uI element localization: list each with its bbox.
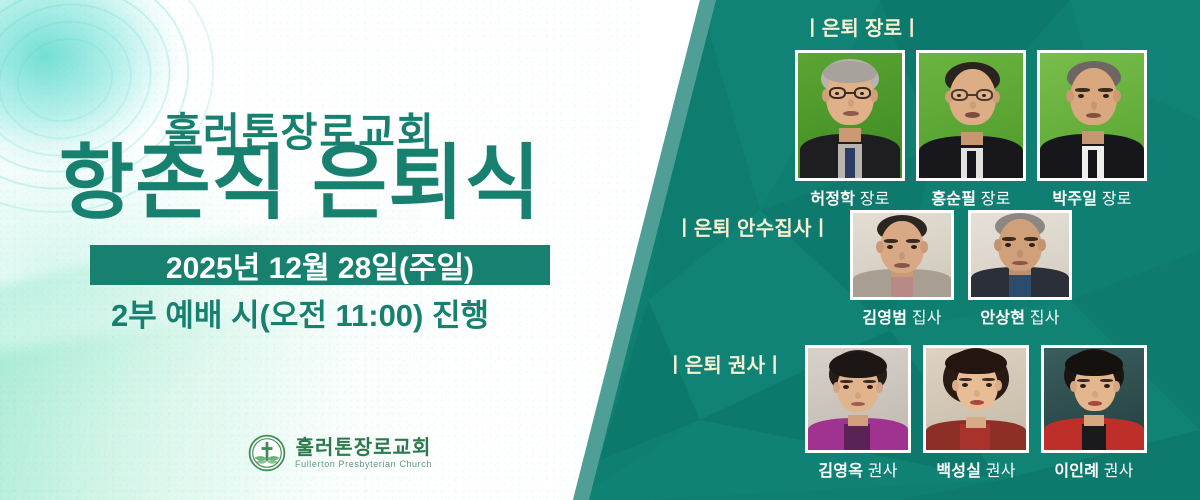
person-given-name: 박주일 [1052, 191, 1097, 208]
person-card: 안상현 집사 [968, 210, 1072, 328]
person-title: 장로 [976, 191, 1011, 208]
person-title: 장로 [1097, 191, 1132, 208]
person-name: 홍순필 장로 [916, 185, 1026, 209]
person-title: 권사 [981, 463, 1016, 480]
portrait-illustration [853, 213, 951, 297]
person-title: 집사 [907, 310, 942, 327]
person-photo [968, 210, 1072, 300]
portrait-illustration [798, 53, 902, 178]
person-card: 김영범 집사 [850, 210, 954, 328]
person-given-name: 홍순필 [931, 191, 976, 208]
portrait-illustration [808, 348, 908, 450]
portrait-illustration [971, 213, 1069, 297]
person-photo [795, 50, 905, 181]
person-given-name: 이인례 [1054, 463, 1099, 480]
person-photo [923, 345, 1029, 453]
people-row-female-deacons: 김영옥 권사 [805, 345, 1147, 481]
person-title: 장로 [855, 191, 890, 208]
person-card: 김영옥 권사 [805, 345, 911, 481]
person-name: 박주일 장로 [1037, 185, 1147, 209]
portrait-illustration [1044, 348, 1144, 450]
person-card: 허정학 장로 [795, 50, 905, 209]
person-card: 홍순필 장로 [916, 50, 1026, 209]
person-name: 안상현 집사 [968, 304, 1072, 328]
person-given-name: 허정학 [810, 191, 855, 208]
person-photo [916, 50, 1026, 181]
people-row-elders: 허정학 장로 [795, 50, 1147, 209]
person-given-name: 김영범 [862, 310, 907, 327]
person-given-name: 안상현 [980, 310, 1025, 327]
group-heading-female-deacons: ㅣ은퇴 권사ㅣ [666, 349, 784, 378]
person-photo [805, 345, 911, 453]
person-photo [1037, 50, 1147, 181]
people-row-ordained-deacons: 김영범 집사 [850, 210, 1072, 328]
portrait-illustration [1040, 53, 1144, 178]
person-name: 백성실 권사 [923, 457, 1029, 481]
person-card: 박주일 장로 [1037, 50, 1147, 209]
date-text: 2025년 12월 28일(주일) [166, 243, 474, 287]
person-title: 집사 [1025, 310, 1060, 327]
person-name: 이인례 권사 [1041, 457, 1147, 481]
logo-english-name: Fullerton Presbyterian Church [295, 460, 432, 469]
person-name: 허정학 장로 [795, 185, 905, 209]
person-title: 권사 [1099, 463, 1134, 480]
group-heading-elders: ㅣ은퇴 장로ㅣ [803, 12, 921, 41]
retirees-section: ㅣ은퇴 장로ㅣ [600, 0, 1200, 500]
person-title: 권사 [863, 463, 898, 480]
person-given-name: 김영옥 [818, 463, 863, 480]
person-card: 이인례 권사 [1041, 345, 1147, 481]
portrait-illustration [919, 53, 1023, 178]
left-text-block: 훌러톤장로교회 항존직 은퇴식 2025년 12월 28일(주일) 2부 예배 … [0, 0, 600, 500]
person-photo [850, 210, 954, 300]
church-logo: 훌러톤장로교회 Fullerton Presbyterian Church [248, 434, 432, 472]
portrait-illustration [926, 348, 1026, 450]
person-card: 백성실 권사 [923, 345, 1029, 481]
person-name: 김영옥 권사 [805, 457, 911, 481]
logo-text-block: 훌러톤장로교회 Fullerton Presbyterian Church [295, 438, 432, 469]
page-title: 항존직 은퇴식 [0, 143, 600, 225]
date-banner: 2025년 12월 28일(주일) [90, 245, 550, 285]
church-cross-logo-icon [248, 434, 286, 472]
person-name: 김영범 집사 [850, 304, 954, 328]
group-heading-ordained-deacons: ㅣ은퇴 안수집사ㅣ [675, 212, 830, 241]
retirement-ceremony-banner: 훌러톤장로교회 항존직 은퇴식 2025년 12월 28일(주일) 2부 예배 … [0, 0, 1200, 500]
service-time-text: 2부 예배 시(오전 11:00) 진행 [0, 290, 600, 335]
logo-korean-name: 훌러톤장로교회 [295, 438, 432, 458]
person-given-name: 백성실 [936, 463, 981, 480]
person-photo [1041, 345, 1147, 453]
